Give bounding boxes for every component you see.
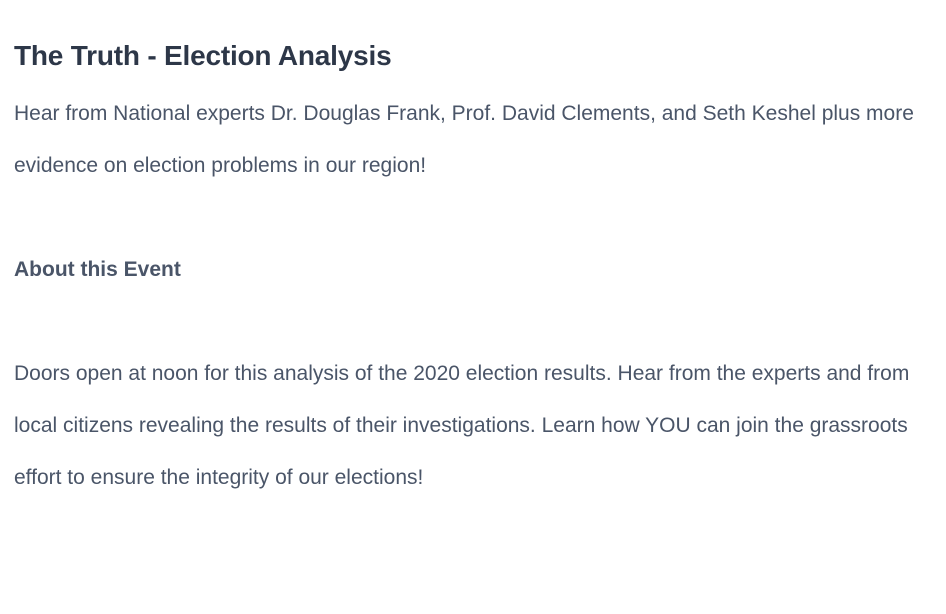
paragraph-spacer-top	[14, 192, 932, 244]
event-description-page: The Truth - Election Analysis Hear from …	[0, 0, 946, 614]
event-description-paragraph: Doors open at noon for this analysis of …	[14, 348, 924, 504]
event-lead-paragraph: Hear from National experts Dr. Douglas F…	[14, 82, 924, 192]
paragraph-spacer-middle	[14, 296, 932, 348]
page-title: The Truth - Election Analysis	[14, 0, 932, 82]
section-heading-about-this-event: About this Event	[14, 244, 932, 296]
